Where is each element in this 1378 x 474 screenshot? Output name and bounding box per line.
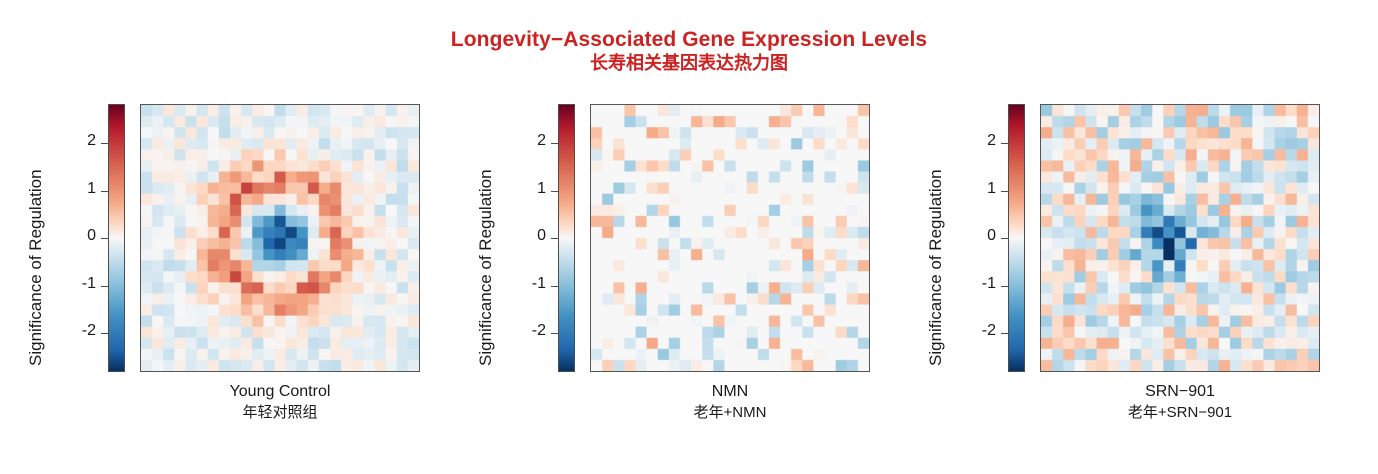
heatmap-plot bbox=[1040, 104, 1320, 372]
tick-1: 1 bbox=[946, 191, 1008, 192]
tick-mark bbox=[551, 333, 558, 334]
heatmap-plot bbox=[140, 104, 420, 372]
tick-2: 2 bbox=[946, 143, 1008, 144]
panel-caption-zh: 老年+NMN bbox=[550, 403, 910, 423]
tick-neg2: -2 bbox=[46, 333, 108, 334]
tick-0: 0 bbox=[496, 238, 558, 239]
tick-mark bbox=[101, 238, 108, 239]
y-axis-label: Significance of Regulation bbox=[26, 169, 46, 366]
heatmap-plot bbox=[590, 104, 870, 372]
y-axis-ticks: 2 1 0 -1 -2 bbox=[496, 104, 558, 372]
colorbar bbox=[108, 104, 125, 372]
tick-mark bbox=[551, 143, 558, 144]
tick-1: 1 bbox=[496, 191, 558, 192]
figure-title-en: Longevity−Associated Gene Expression Lev… bbox=[0, 28, 1378, 53]
tick-mark bbox=[551, 191, 558, 192]
tick-neg2: -2 bbox=[496, 333, 558, 334]
y-axis-ticks: 2 1 0 -1 -2 bbox=[946, 104, 1008, 372]
tick-neg1: -1 bbox=[946, 286, 1008, 287]
panel-caption-en: Young Control bbox=[100, 382, 460, 403]
tick-mark bbox=[101, 191, 108, 192]
tick-mark bbox=[101, 143, 108, 144]
tick-mark bbox=[101, 286, 108, 287]
panel-caption: NMN 老年+NMN bbox=[550, 382, 910, 422]
panel-caption: Young Control 年轻对照组 bbox=[100, 382, 460, 422]
tick-mark bbox=[551, 286, 558, 287]
tick-neg1: -1 bbox=[46, 286, 108, 287]
tick-2: 2 bbox=[46, 143, 108, 144]
tick-mark bbox=[1001, 286, 1008, 287]
tick-mark bbox=[101, 333, 108, 334]
panel-caption-en: NMN bbox=[550, 382, 910, 403]
tick-neg1: -1 bbox=[496, 286, 558, 287]
panel-caption-zh: 年轻对照组 bbox=[100, 403, 460, 423]
colorbar bbox=[558, 104, 575, 372]
figure-title: Longevity−Associated Gene Expression Lev… bbox=[0, 28, 1378, 74]
tick-1: 1 bbox=[46, 191, 108, 192]
tick-mark bbox=[551, 238, 558, 239]
y-axis-label: Significance of Regulation bbox=[926, 169, 946, 366]
tick-0: 0 bbox=[46, 238, 108, 239]
colorbar bbox=[1008, 104, 1025, 372]
panel-caption-zh: 老年+SRN−901 bbox=[1000, 403, 1360, 423]
heatmap-figure: Longevity−Associated Gene Expression Lev… bbox=[0, 0, 1378, 474]
tick-neg2: -2 bbox=[946, 333, 1008, 334]
tick-mark bbox=[1001, 143, 1008, 144]
figure-title-zh: 长寿相关基因表达热力图 bbox=[0, 53, 1378, 74]
panel-caption-en: SRN−901 bbox=[1000, 382, 1360, 403]
y-axis-label: Significance of Regulation bbox=[476, 169, 496, 366]
tick-mark bbox=[1001, 238, 1008, 239]
tick-mark bbox=[1001, 191, 1008, 192]
tick-0: 0 bbox=[946, 238, 1008, 239]
tick-2: 2 bbox=[496, 143, 558, 144]
tick-mark bbox=[1001, 333, 1008, 334]
panel-caption: SRN−901 老年+SRN−901 bbox=[1000, 382, 1360, 422]
y-axis-ticks: 2 1 0 -1 -2 bbox=[46, 104, 108, 372]
